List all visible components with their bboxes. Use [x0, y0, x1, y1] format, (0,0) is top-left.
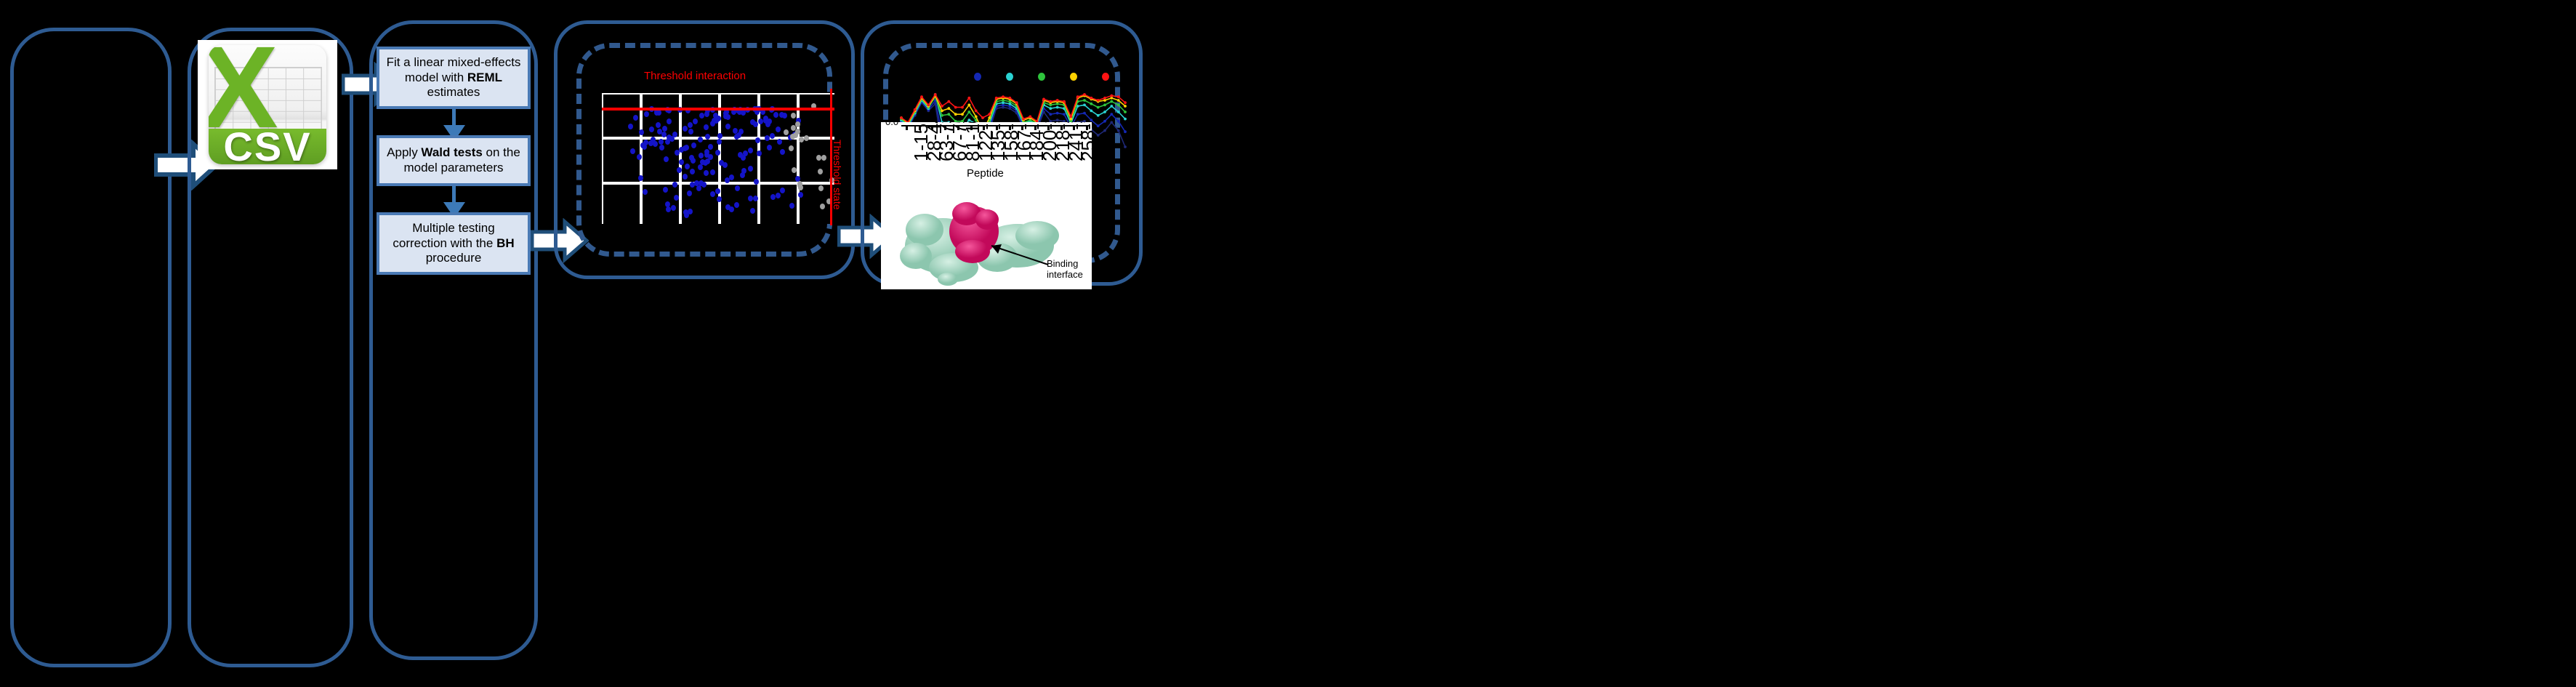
scatter-point — [672, 182, 677, 188]
binding-interface-annotation: Binding interface — [1047, 259, 1092, 281]
scatter-point — [748, 166, 753, 172]
chart-data-point — [1056, 118, 1059, 121]
chart-data-point — [1083, 112, 1086, 115]
chart-data-point — [967, 104, 970, 107]
scatter-point — [770, 133, 775, 139]
chart-data-point — [1124, 118, 1127, 121]
x-axis-tick — [996, 125, 998, 130]
step-box-wald: Apply Wald tests on the model parameters — [377, 135, 531, 186]
chart-data-point — [1015, 101, 1018, 104]
scatter-point — [789, 203, 794, 209]
volcano-plot — [602, 93, 834, 224]
scatter-point — [715, 150, 720, 156]
scatter-point-nonsignificant — [791, 113, 796, 118]
scatter-point-nonsignificant — [784, 129, 789, 135]
scatter-point — [753, 196, 758, 201]
scatter-point — [701, 182, 707, 188]
chart-data-point — [1090, 118, 1092, 121]
chart-data-point — [941, 105, 943, 108]
x-axis-tick — [944, 125, 946, 130]
chart-data-point — [995, 97, 998, 100]
chart-data-point — [975, 110, 978, 113]
scatter-point — [699, 153, 704, 158]
scatter-point — [717, 139, 722, 145]
scatter-point — [677, 167, 682, 173]
scatter-point — [750, 119, 755, 125]
step-box-bh: Multiple testing correction with the BH … — [377, 212, 531, 275]
chart-data-point — [1124, 101, 1127, 104]
scatter-point — [776, 193, 781, 198]
x-axis-tick — [1060, 125, 1063, 130]
scatter-point — [777, 139, 782, 145]
scatter-point — [643, 189, 648, 195]
scatter-point-nonsignificant — [804, 135, 809, 141]
chart-data-point — [947, 107, 950, 110]
chart-data-point — [1097, 124, 1100, 127]
x-axis-tick — [1009, 125, 1011, 130]
chart-data-point — [1117, 111, 1120, 113]
scatter-point — [691, 158, 696, 164]
legend-dot — [1070, 73, 1077, 81]
scatter-point — [741, 168, 746, 174]
scatter-point-nonsignificant — [818, 185, 824, 191]
chart-data-point — [941, 110, 943, 113]
scatter-point — [663, 187, 668, 193]
panel-input — [10, 28, 172, 667]
scatter-point — [704, 124, 709, 130]
scatter-point — [699, 113, 704, 118]
scatter-point — [704, 170, 709, 176]
chart-data-point — [1097, 134, 1100, 137]
csv-label-band: CSV — [209, 129, 326, 164]
chart-data-point — [1110, 121, 1113, 124]
chart-data-point — [934, 93, 937, 96]
legend-dot — [1006, 73, 1013, 81]
step-box-reml: Fit a linear mixed-effects model with RE… — [377, 47, 531, 109]
chart-data-point — [967, 111, 970, 113]
chart-data-point — [1049, 113, 1052, 116]
chart-data-point — [1124, 130, 1127, 133]
threshold-state-label: Threshold state — [832, 140, 843, 210]
scatter-point — [757, 150, 762, 156]
scatter-point — [705, 134, 710, 140]
step-wald-text: Apply Wald tests on the model parameters — [385, 145, 522, 175]
scatter-point — [630, 148, 635, 154]
scatter-point-nonsignificant — [818, 169, 823, 174]
scatter-point — [671, 205, 676, 211]
chart-data-point — [961, 113, 964, 116]
chart-data-point — [941, 114, 943, 117]
scatter-point — [703, 160, 708, 166]
scatter-point — [672, 132, 677, 137]
chart-data-point — [1042, 98, 1045, 101]
scatter-point — [748, 148, 753, 153]
scatter-point — [661, 132, 667, 137]
scatter-point — [637, 154, 642, 160]
chart-data-point — [1090, 103, 1092, 105]
chart-data-point — [1083, 104, 1086, 107]
chart-data-point — [920, 95, 923, 98]
x-axis-tick — [919, 125, 921, 130]
x-axis-title: Peptide — [967, 167, 1004, 180]
scatter-point — [750, 208, 755, 214]
chart-data-point — [954, 113, 957, 116]
chart-data-point — [1056, 106, 1059, 109]
scatter-point — [653, 141, 658, 147]
scatter-point — [780, 149, 785, 155]
scatter-point — [687, 190, 692, 196]
scatter-point — [659, 145, 664, 150]
chart-data-point — [1056, 99, 1059, 102]
scatter-point — [734, 202, 739, 208]
chart-data-point — [1117, 104, 1120, 107]
scatter-point — [717, 133, 723, 139]
scatter-point — [717, 196, 722, 202]
scatter-point — [735, 185, 740, 191]
scatter-point — [743, 150, 748, 156]
scatter-point-nonsignificant — [789, 145, 794, 151]
scatter-point — [776, 126, 781, 132]
scatter-point — [754, 179, 759, 185]
chart-data-point — [1110, 113, 1113, 116]
chart-data-point — [1083, 99, 1086, 102]
x-axis-tick — [1021, 125, 1023, 130]
scatter-point — [782, 113, 787, 118]
chart-data-point — [975, 116, 978, 118]
scatter-point — [693, 118, 698, 124]
scatter-point — [748, 196, 753, 201]
scatter-point — [780, 188, 785, 193]
chart-data-point — [1110, 95, 1113, 97]
scatter-point — [765, 135, 770, 141]
x-axis-tick-label: 277-284 — [1090, 122, 1092, 161]
chart-data-point — [1063, 100, 1066, 103]
chart-data-point — [1022, 118, 1025, 121]
scatter-point — [710, 191, 715, 197]
threshold-interaction-label: Threshold interaction — [644, 70, 746, 82]
chart-data-point — [1083, 93, 1086, 96]
scatter-point — [664, 156, 669, 162]
legend-dot — [974, 73, 981, 81]
step-bh-text: Multiple testing correction with the BH … — [385, 221, 522, 266]
scatter-point — [708, 154, 713, 160]
chart-data-point — [1110, 105, 1113, 108]
scatter-point — [729, 174, 734, 180]
chart-data-point — [1110, 100, 1113, 103]
threshold-interaction-line — [602, 108, 834, 111]
scatter-point — [755, 137, 760, 143]
chart-data-point — [947, 100, 950, 103]
chart-data-point — [961, 106, 964, 109]
chart-data-point — [1029, 116, 1031, 118]
chart-data-point — [967, 118, 970, 121]
x-axis-tick — [970, 125, 973, 130]
chart-data-point — [1002, 95, 1005, 98]
scatter-point-nonsignificant — [816, 155, 821, 161]
chart-data-point — [914, 108, 917, 111]
scatter-point — [659, 139, 664, 145]
chart-data-point — [1103, 104, 1106, 107]
chart-data-point — [1049, 100, 1052, 103]
scatter-point — [674, 195, 679, 201]
scatter-point — [683, 174, 688, 180]
scatter-point — [656, 122, 661, 128]
chart-data-point — [1103, 120, 1106, 123]
scatter-point — [638, 175, 643, 181]
scatter-point — [733, 128, 738, 134]
step-reml-text: Fit a linear mixed-effects model with RE… — [385, 55, 522, 100]
x-axis-tick — [1034, 125, 1037, 130]
chart-data-point — [1097, 99, 1100, 102]
chart-data-point — [1008, 97, 1011, 100]
chart-data-point — [1117, 95, 1120, 98]
excel-x-icon: X — [212, 55, 267, 120]
chart-data-point — [1124, 145, 1127, 148]
chart-data-point — [1097, 106, 1100, 109]
scatter-points — [602, 93, 834, 224]
chart-data-point — [1117, 129, 1120, 132]
scatter-point — [639, 129, 644, 135]
scatter-point — [685, 164, 690, 169]
csv-icon-body: X CSV — [209, 45, 326, 164]
scatter-point — [696, 185, 701, 191]
chart-data-point — [1049, 107, 1052, 110]
chart-data-point — [927, 104, 930, 107]
scatter-point — [691, 142, 696, 148]
scatter-point — [710, 169, 715, 175]
chart-data-point — [1090, 97, 1092, 100]
scatter-point — [679, 159, 684, 165]
x-axis-tick — [957, 125, 959, 130]
scatter-point — [765, 121, 770, 127]
scatter-point — [665, 201, 670, 207]
scatter-point — [683, 126, 688, 132]
scatter-point-nonsignificant — [792, 167, 797, 173]
chart-data-point — [967, 97, 970, 100]
scatter-point — [767, 145, 772, 150]
chart-data-point — [1056, 112, 1059, 115]
scatter-point — [683, 209, 688, 215]
chart-data-point — [1103, 129, 1106, 132]
scatter-point — [690, 169, 695, 174]
scatter-point — [725, 124, 730, 129]
scatter-point-nonsignificant — [820, 204, 825, 209]
legend-dot — [1038, 73, 1045, 81]
x-axis-tick — [1086, 125, 1088, 130]
chart-data-point — [1103, 97, 1106, 100]
scatter-point — [688, 129, 693, 134]
chart-data-point — [981, 116, 984, 119]
x-axis-tick — [906, 125, 908, 130]
structure-inset: 0.0 1-1528-4463-7367-7581-101122-129135-… — [881, 122, 1092, 289]
chart-data-point — [1076, 113, 1079, 116]
chart-data-point — [954, 106, 957, 109]
scatter-point — [688, 122, 693, 128]
scatter-point — [679, 147, 684, 153]
scatter-point — [734, 134, 739, 140]
scatter-point — [644, 111, 649, 117]
scatter-point — [698, 137, 703, 142]
chart-legend — [888, 71, 1128, 83]
scatter-point — [642, 144, 647, 150]
scatter-point — [714, 118, 719, 124]
workflow-figure: X CSV Fit a linear mixed-effects model w… — [0, 0, 2576, 687]
x-axis-tick — [1073, 125, 1075, 130]
scatter-point — [773, 112, 778, 118]
chart-data-point — [988, 113, 991, 116]
scatter-point — [798, 192, 803, 198]
scatter-point-nonsignificant — [821, 155, 826, 161]
x-axis-tick — [931, 125, 933, 130]
chart-data-point — [900, 116, 903, 119]
chart-data-point — [1097, 114, 1100, 117]
chart-data-point — [947, 113, 950, 116]
chart-data-point — [1069, 116, 1072, 118]
scatter-point — [715, 188, 720, 194]
csv-file-icon: X CSV — [198, 40, 337, 169]
x-axis-tick — [1047, 125, 1050, 130]
scatter-point — [628, 124, 633, 129]
scatter-point — [633, 115, 638, 121]
x-axis-tick — [983, 125, 985, 130]
scatter-point-nonsignificant — [797, 182, 802, 188]
chart-data-point — [988, 116, 991, 119]
scatter-point — [667, 118, 672, 124]
chart-data-point — [1076, 95, 1079, 98]
scatter-point — [690, 182, 695, 188]
chart-data-point — [1117, 120, 1120, 123]
chart-data-point — [1103, 111, 1106, 113]
chart-data-point — [1117, 99, 1120, 102]
chart-data-point — [1124, 111, 1127, 113]
chart-data-point — [1090, 110, 1092, 113]
scatter-point-nonsignificant — [790, 134, 795, 140]
chart-data-point — [1063, 113, 1066, 116]
csv-format-label: CSV — [223, 123, 311, 164]
scatter-point — [649, 126, 654, 132]
legend-dot — [1102, 73, 1109, 81]
scatter-point — [770, 194, 776, 200]
chart-data-point — [1124, 105, 1127, 108]
